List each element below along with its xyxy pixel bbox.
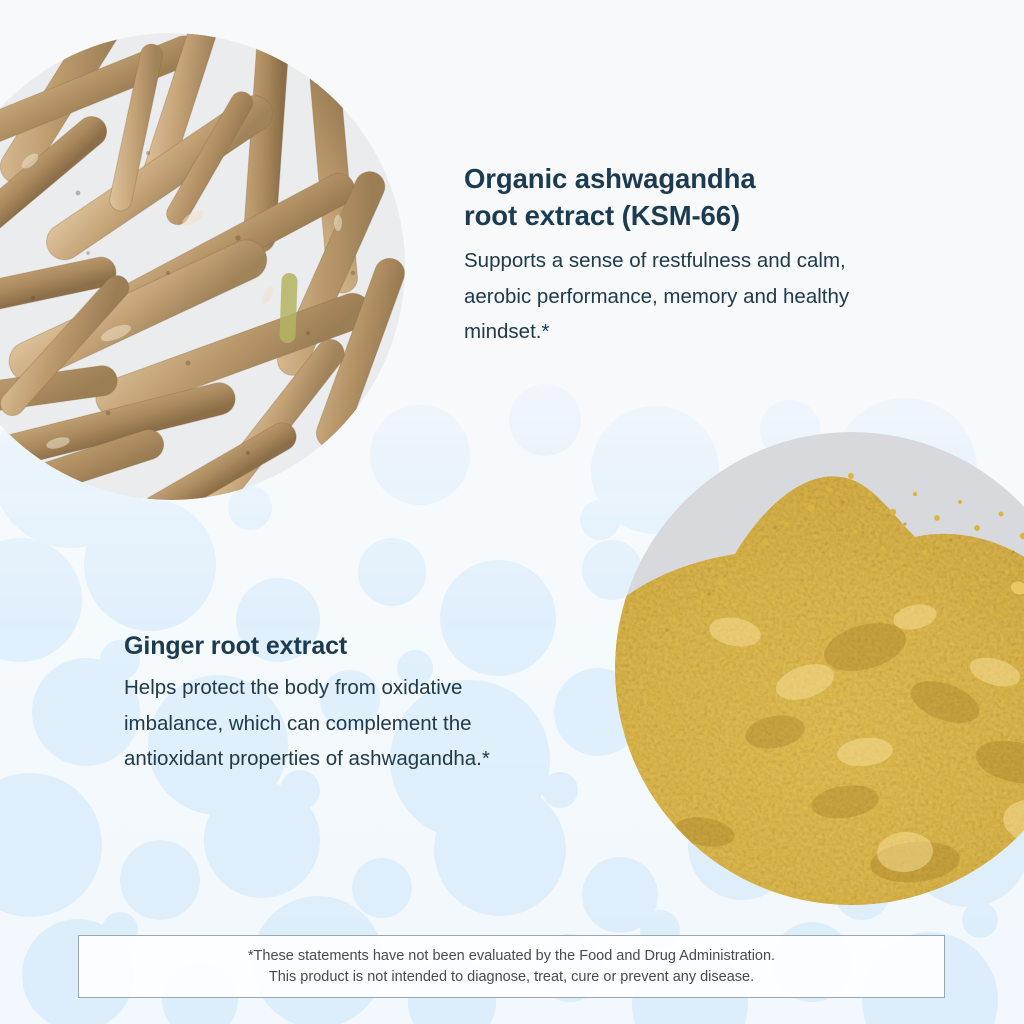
- disclaimer-line-1: *These statements have not been evaluate…: [248, 946, 775, 967]
- product-ingredient-panel: Organic ashwagandha root extract (KSM-66…: [0, 0, 1024, 1024]
- ingredient-body-ginger: Helps protect the body from oxidative im…: [124, 670, 564, 777]
- ingredient-heading-ginger: Ginger root extract: [124, 630, 564, 663]
- ingredient-heading-ashwagandha: Organic ashwagandha root extract (KSM-66…: [464, 160, 874, 234]
- disclaimer-line-2: This product is not intended to diagnose…: [269, 967, 754, 988]
- ingredient-heading-line1: Organic ashwagandha: [464, 163, 756, 194]
- ingredient-block-ginger: Ginger root extract Helps protect the bo…: [124, 630, 564, 777]
- ingredient-block-ashwagandha: Organic ashwagandha root extract (KSM-66…: [464, 160, 874, 350]
- fda-disclaimer-box: *These statements have not been evaluate…: [78, 935, 945, 998]
- ingredient-body-ashwagandha: Supports a sense of restfulness and calm…: [464, 243, 874, 350]
- ingredient-heading-line2: root extract (KSM-66): [464, 200, 740, 231]
